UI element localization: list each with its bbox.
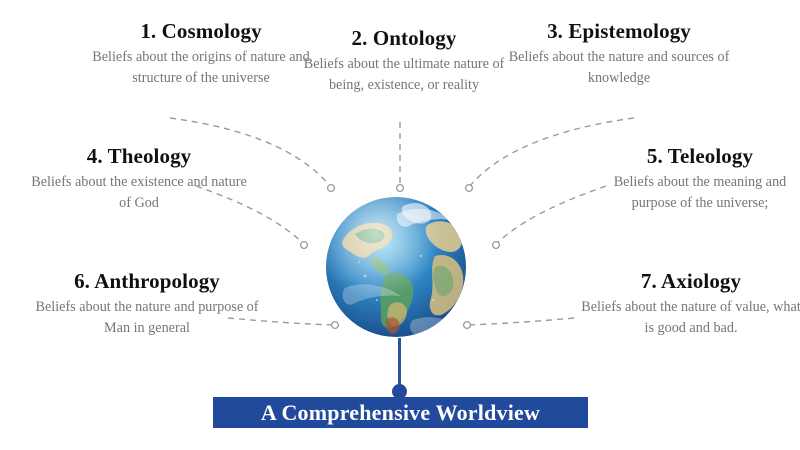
node-axiology-desc: Beliefs about the nature of value, what …: [578, 297, 800, 338]
connector-teleology: [497, 186, 606, 243]
connector-endpoint-anthropology: [332, 322, 339, 329]
node-teleology-desc: Beliefs about the meaning and purpose of…: [600, 172, 800, 213]
worldview-diagram: 1. Cosmology Beliefs about the origins o…: [0, 0, 800, 450]
worldview-banner: A Comprehensive Worldview: [213, 397, 588, 428]
connector-endpoint-teleology: [493, 242, 500, 249]
connector-endpoint-epistemology: [466, 185, 473, 192]
connector-endpoint-theology: [301, 242, 308, 249]
connector-endpoint-cosmology: [328, 185, 335, 192]
node-theology-desc: Beliefs about the existence and nature o…: [28, 172, 250, 213]
banner-stem-line: [398, 338, 401, 388]
node-axiology-title: 7. Axiology: [578, 268, 800, 294]
node-epistemology-desc: Beliefs about the nature and sources of …: [506, 47, 732, 88]
node-ontology-title: 2. Ontology: [298, 25, 510, 51]
earth-globe-icon: [325, 196, 467, 338]
node-theology: 4. Theology Beliefs about the existence …: [28, 143, 250, 213]
connector-endpoint-axiology: [464, 322, 471, 329]
node-anthropology-desc: Beliefs about the nature and purpose of …: [26, 297, 268, 338]
connector-axiology: [468, 318, 574, 325]
worldview-banner-label: A Comprehensive Worldview: [261, 402, 540, 424]
node-cosmology-title: 1. Cosmology: [72, 18, 330, 44]
node-ontology: 2. Ontology Beliefs about the ultimate n…: [298, 25, 510, 95]
node-teleology-title: 5. Teleology: [600, 143, 800, 169]
node-epistemology-title: 3. Epistemology: [506, 18, 732, 44]
connector-endpoint-ontology: [397, 185, 404, 192]
node-axiology: 7. Axiology Beliefs about the nature of …: [578, 268, 800, 338]
node-theology-title: 4. Theology: [28, 143, 250, 169]
node-teleology: 5. Teleology Beliefs about the meaning a…: [600, 143, 800, 213]
node-cosmology: 1. Cosmology Beliefs about the origins o…: [72, 18, 330, 88]
node-ontology-desc: Beliefs about the ultimate nature of bei…: [298, 54, 510, 95]
node-epistemology: 3. Epistemology Beliefs about the nature…: [506, 18, 732, 88]
node-anthropology-title: 6. Anthropology: [26, 268, 268, 294]
node-cosmology-desc: Beliefs about the origins of nature and …: [72, 47, 330, 88]
node-anthropology: 6. Anthropology Beliefs about the nature…: [26, 268, 268, 338]
